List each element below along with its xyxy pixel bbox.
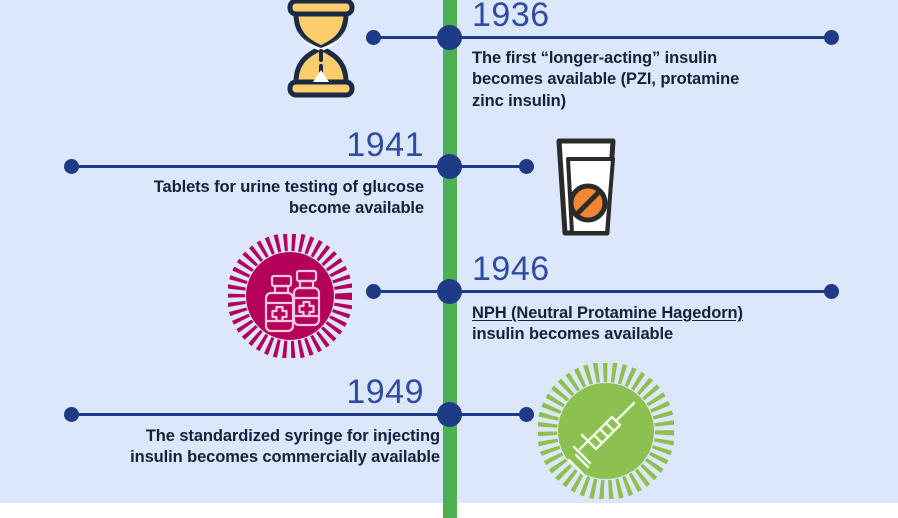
node-dot-small-left-1946[interactable]: [366, 284, 381, 299]
hourglass-icon: [284, 0, 358, 98]
connector-line-left-1941: [70, 165, 452, 168]
connector-line-left-1949: [70, 413, 452, 416]
node-dot-small-left-1949[interactable]: [64, 407, 79, 422]
node-dot-small-right-1946[interactable]: [824, 284, 839, 299]
node-dot-small-right-1941[interactable]: [519, 159, 534, 174]
connector-line-right-1936: [452, 36, 834, 39]
node-dot-small-right-1936[interactable]: [824, 30, 839, 45]
timeline-infographic: 1936 The first “longer-acting” insulin b…: [0, 0, 898, 518]
connector-line-right-1946: [452, 290, 834, 293]
timeline-spine: [443, 0, 457, 518]
event-description-line: zinc insulin): [472, 92, 566, 110]
node-dot-spine-1949[interactable]: [437, 402, 462, 427]
event-description-line: becomes available (PZI, protamine: [472, 70, 739, 88]
event-description-line: Tablets for urine testing of glucose: [154, 178, 424, 196]
medicine-bottles-badge-icon: [228, 234, 352, 358]
event-description-line-underlined: NPH (Neutral Protamine Hagedorn): [472, 304, 743, 322]
glass-with-tablet-icon: [551, 137, 621, 237]
year-label-1936: 1936: [472, 0, 550, 32]
year-label-1949: 1949: [296, 375, 424, 409]
event-description-line: become available: [289, 199, 424, 217]
node-dot-spine-1941[interactable]: [437, 154, 462, 179]
node-dot-small-right-1949[interactable]: [519, 407, 534, 422]
event-description-line: insulin becomes commercially available: [130, 448, 440, 466]
syringe-badge-icon: [538, 363, 674, 499]
event-description-1941: Tablets for urine testing of glucose bec…: [52, 177, 424, 220]
node-dot-small-left-1941[interactable]: [64, 159, 79, 174]
node-dot-spine-1936[interactable]: [437, 25, 462, 50]
event-description-line: insulin becomes available: [472, 325, 673, 343]
year-label-1941: 1941: [296, 128, 424, 162]
event-description-line: The first “longer-acting” insulin: [472, 49, 717, 67]
node-dot-spine-1946[interactable]: [437, 279, 462, 304]
event-description-1936: The first “longer-acting” insulin become…: [472, 48, 844, 112]
year-label-1946: 1946: [472, 252, 550, 286]
event-description-1949: The standardized syringe for injecting i…: [30, 426, 440, 469]
event-description-1946: NPH (Neutral Protamine Hagedorn) insulin…: [472, 303, 852, 346]
node-dot-small-left-1936[interactable]: [366, 30, 381, 45]
event-description-line: The standardized syringe for injecting: [146, 427, 440, 445]
